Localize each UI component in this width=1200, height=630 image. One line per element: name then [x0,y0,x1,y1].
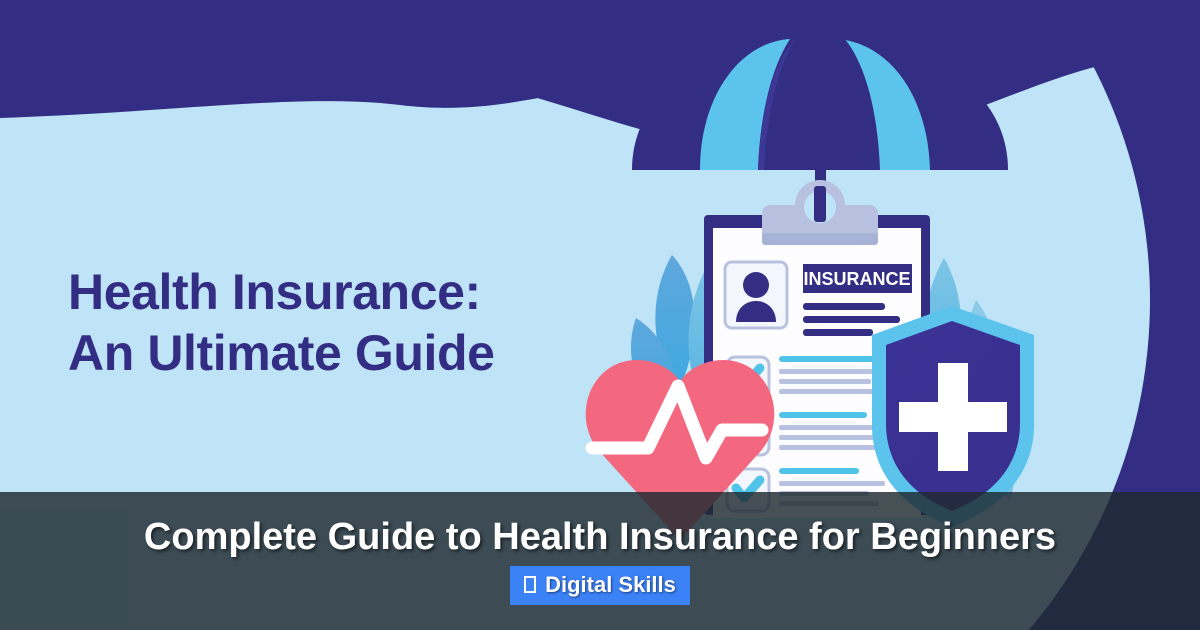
category-badge[interactable]: Digital Skills [510,566,690,605]
insurance-banner-text: INSURANCE [803,269,910,289]
overlay-title: Complete Guide to Health Insurance for B… [144,518,1056,556]
overlay-caption-bar: Complete Guide to Health Insurance for B… [0,492,1200,630]
missing-glyph-box-icon [524,576,536,593]
page-title: Health Insurance: An Ultimate Guide [68,262,628,384]
category-badge-label: Digital Skills [545,574,676,596]
poster-canvas: INSURANCE [0,0,1200,630]
